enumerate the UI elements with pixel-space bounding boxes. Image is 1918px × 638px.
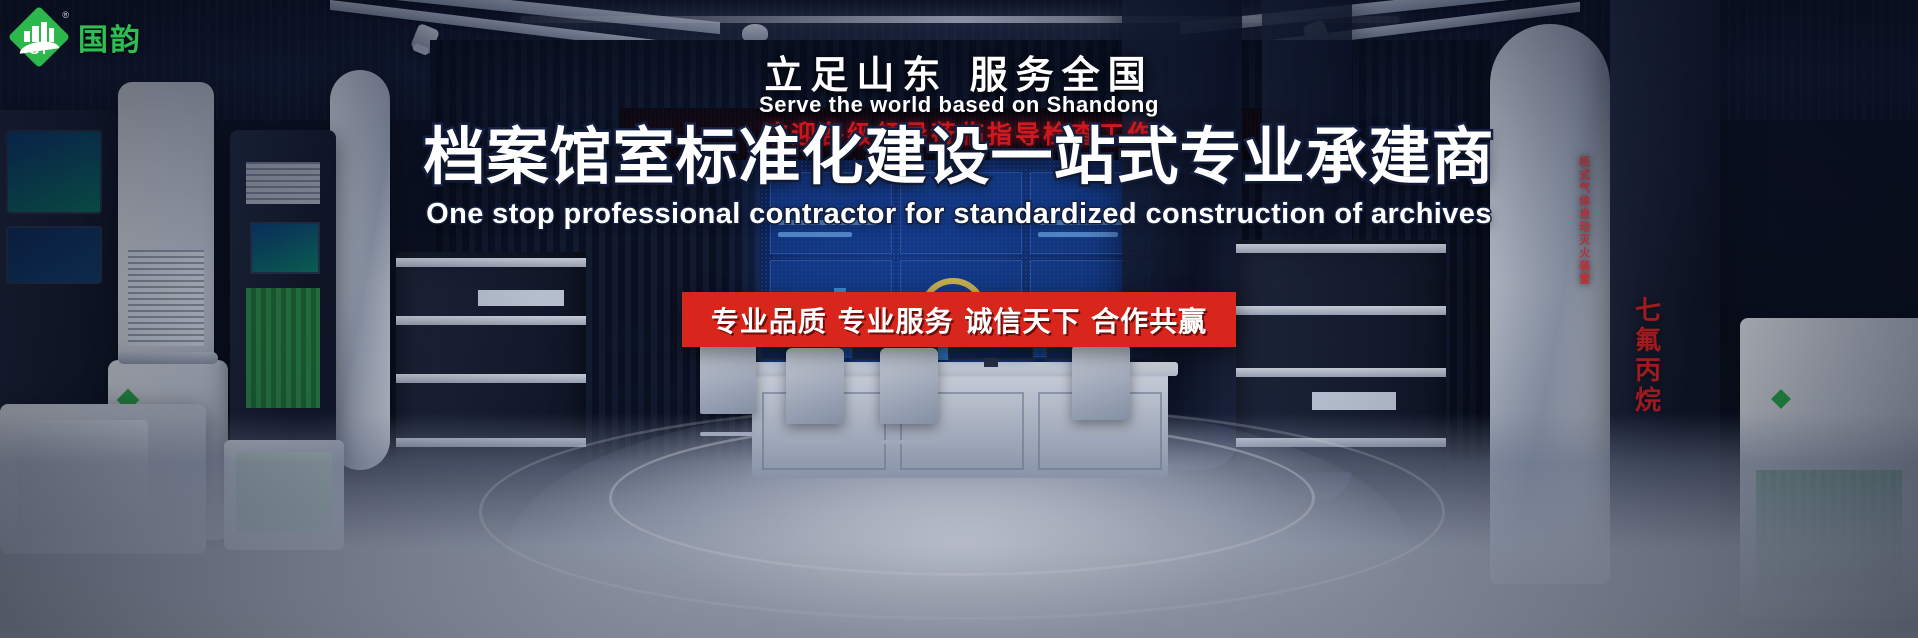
hero-banner: 七氟丙烷 柜式气体自动灭火装置 xyxy=(0,0,1918,638)
hero-headline-cn: 档案馆室标准化建设一站式专业承建商 xyxy=(0,126,1918,188)
logo-inner-graphics: GY xyxy=(10,8,68,66)
company-logo[interactable]: GY ® 国韵 xyxy=(10,8,142,66)
hero-subline-en: One stop professional contractor for sta… xyxy=(0,198,1918,231)
slogan-text: 专业品质 专业服务 诚信天下 合作共赢 xyxy=(711,300,1207,340)
slogan-banner[interactable]: 专业品质 专业服务 诚信天下 合作共赢 xyxy=(682,292,1236,347)
buildings-icon xyxy=(24,22,54,42)
brand-name: 国韵 xyxy=(78,15,142,59)
hero-content: 立足山东 服务全国 Serve the world based on Shand… xyxy=(0,0,1918,638)
registered-mark: ® xyxy=(62,10,69,20)
hero-kicker-cn: 立足山东 服务全国 xyxy=(0,44,1918,99)
gy-diamond-icon: GY ® xyxy=(10,8,68,66)
